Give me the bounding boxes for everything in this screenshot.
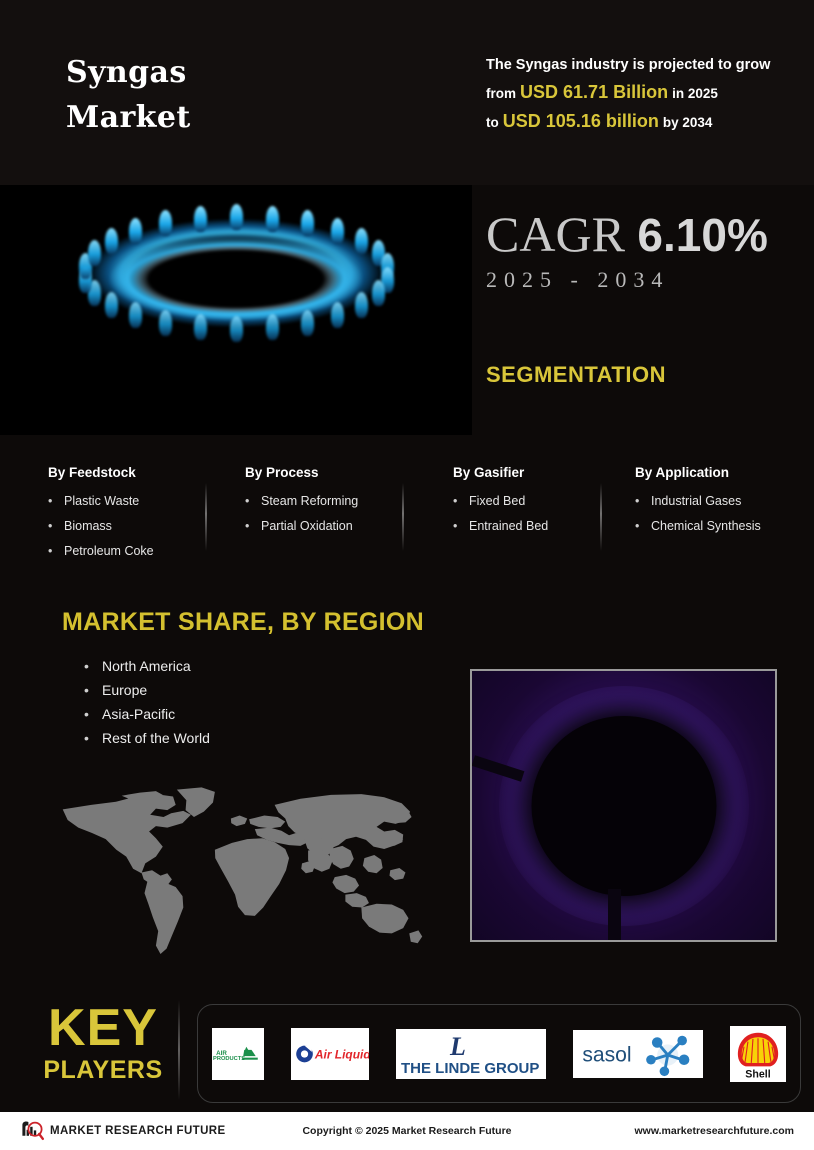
world-map-image <box>40 782 424 957</box>
cagr-year-range: 2025 - 2034 <box>486 267 768 293</box>
flame-tooth <box>159 210 172 236</box>
segmentation-title: SEGMENTATION <box>486 362 666 388</box>
hero-flame-image <box>0 185 472 435</box>
segmentation-item: •Fixed Bed <box>453 489 548 514</box>
footer-url[interactable]: www.marketresearchfuture.com <box>534 1125 794 1137</box>
key-players-label: KEY PLAYERS <box>28 1002 178 1086</box>
svg-text:Air Liquide: Air Liquide <box>314 1047 369 1061</box>
region-list-item: •Europe <box>84 678 210 702</box>
flame2-grate-bottom <box>608 889 621 941</box>
bullet-icon: • <box>84 678 102 702</box>
svg-text:THE LINDE GROUP: THE LINDE GROUP <box>401 1060 539 1077</box>
bullet-icon: • <box>84 726 102 750</box>
bullet-icon: • <box>245 514 261 539</box>
segmentation-column-2: By Process•Steam Reforming•Partial Oxida… <box>245 465 358 539</box>
segmentation-item: •Biomass <box>48 514 154 539</box>
segmentation-item: •Industrial Gases <box>635 489 761 514</box>
key-players-divider <box>178 1000 180 1100</box>
flame-tooth <box>331 218 344 244</box>
flame-tooth <box>88 240 101 266</box>
flame-tooth <box>129 218 142 244</box>
logo-linde-group: L THE LINDE GROUP <box>396 1029 546 1079</box>
cagr-value: 6.10% <box>637 209 767 261</box>
logo-sasol: sasol <box>573 1030 703 1078</box>
bullet-icon: • <box>48 514 64 539</box>
bullet-icon: • <box>635 514 651 539</box>
bullet-icon: • <box>84 654 102 678</box>
footer-brand-name: MARKET RESEARCH FUTURE <box>50 1125 226 1137</box>
flame-tooth <box>194 314 207 340</box>
cagr-block: CAGR 6.10% 2025 - 2034 <box>486 206 768 293</box>
key-players-label-bottom: PLAYERS <box>28 1054 178 1086</box>
svg-text:Shell: Shell <box>746 1068 771 1080</box>
bullet-icon: • <box>48 539 64 564</box>
secondary-flame-image <box>470 669 777 942</box>
cagr-headline: CAGR 6.10% <box>486 206 768 263</box>
title-line-2: Market <box>66 95 396 140</box>
segmentation-column-1: By Feedstock•Plastic Waste•Biomass•Petro… <box>48 465 154 564</box>
flame-tooth <box>355 292 368 318</box>
segmentation-item: •Petroleum Coke <box>48 539 154 564</box>
air-products-logo-icon: AIR PRODUCTS <box>212 1028 264 1080</box>
segmentation-item: •Entrained Bed <box>453 514 548 539</box>
growth-line-3-suffix: by 2034 <box>663 115 713 130</box>
footer-copyright: Copyright © 2025 Market Research Future <box>280 1125 534 1137</box>
segmentation-item: •Steam Reforming <box>245 489 358 514</box>
growth-line-2-prefix: from <box>486 86 516 101</box>
title-line-1: Syngas <box>66 50 396 95</box>
bullet-icon: • <box>48 489 64 514</box>
segmentation-item: •Plastic Waste <box>48 489 154 514</box>
growth-line-1: The Syngas industry is projected to grow <box>486 52 786 79</box>
infographic-page: Syngas Market The Syngas industry is pro… <box>0 0 814 1150</box>
flame-tooth <box>230 316 243 342</box>
sasol-logo-icon: sasol <box>573 1030 703 1078</box>
key-players-label-top: KEY <box>28 1002 178 1054</box>
flame-tooth <box>301 210 314 236</box>
flame-tooth <box>301 310 314 336</box>
flame-tooth <box>230 204 243 230</box>
segmentation-divider-2 <box>402 483 404 551</box>
flame2-burner-core <box>531 716 716 896</box>
bullet-icon: • <box>453 489 469 514</box>
svg-text:sasol: sasol <box>582 1043 631 1066</box>
logo-air-products: AIR PRODUCTS <box>212 1028 264 1080</box>
world-map-svg <box>40 782 424 957</box>
growth-value-2034: USD 105.16 billion <box>503 111 659 131</box>
linde-group-logo-icon: L THE LINDE GROUP <box>396 1029 546 1079</box>
flame-tooth <box>266 314 279 340</box>
growth-line-3-prefix: to <box>486 115 499 130</box>
footer-brand: MARKET RESEARCH FUTURE <box>20 1120 280 1142</box>
segmentation-heading: By Gasifier <box>453 465 548 480</box>
bullet-icon: • <box>245 489 261 514</box>
flame-tooth <box>331 302 344 328</box>
page-title: Syngas Market <box>66 50 396 140</box>
segmentation-heading: By Application <box>635 465 761 480</box>
flame-tooth <box>105 292 118 318</box>
bullet-icon: • <box>84 702 102 726</box>
segmentation-item: •Partial Oxidation <box>245 514 358 539</box>
segmentation-column-4: By Application•Industrial Gases•Chemical… <box>635 465 761 539</box>
flame-tooth <box>129 302 142 328</box>
growth-line-2: from USD 61.71 Billion in 2025 <box>486 79 786 108</box>
flame-tooth <box>266 206 279 232</box>
segmentation-column-3: By Gasifier•Fixed Bed•Entrained Bed <box>453 465 548 539</box>
segmentation-divider-3 <box>600 483 602 551</box>
flame-tooth <box>105 228 118 254</box>
region-list: •North America•Europe•Asia-Pacific•Rest … <box>84 654 210 750</box>
key-players-logo-box: AIR PRODUCTS Air Liquide L THE LINDE GRO… <box>197 1004 801 1103</box>
growth-statement: The Syngas industry is projected to grow… <box>486 52 786 137</box>
flame-tooth <box>372 280 385 306</box>
logo-shell: Shell <box>730 1026 786 1082</box>
segmentation-heading: By Process <box>245 465 358 480</box>
segmentation-heading: By Feedstock <box>48 465 154 480</box>
logo-air-liquide: Air Liquide <box>291 1028 369 1080</box>
flame-tooth <box>355 228 368 254</box>
growth-value-2025: USD 61.71 Billion <box>520 82 668 102</box>
footer: MARKET RESEARCH FUTURE Copyright © 2025 … <box>0 1112 814 1150</box>
cagr-label: CAGR <box>486 206 625 262</box>
region-list-item: •North America <box>84 654 210 678</box>
growth-line-2-suffix: in 2025 <box>672 86 718 101</box>
market-share-title: MARKET SHARE, BY REGION <box>62 608 424 637</box>
svg-text:L: L <box>449 1032 466 1061</box>
world-map-landmasses <box>63 787 423 954</box>
segmentation-row: By Feedstock•Plastic Waste•Biomass•Petro… <box>0 465 814 575</box>
bullet-icon: • <box>635 489 651 514</box>
air-liquide-logo-icon: Air Liquide <box>291 1028 369 1080</box>
bullet-icon: • <box>453 514 469 539</box>
flame-tooth <box>194 206 207 232</box>
shell-logo-icon: Shell <box>730 1026 786 1082</box>
svg-text:PRODUCTS: PRODUCTS <box>213 1056 245 1062</box>
segmentation-divider-1 <box>205 483 207 551</box>
region-list-item: •Rest of the World <box>84 726 210 750</box>
growth-line-3: to USD 105.16 billion by 2034 <box>486 108 786 137</box>
region-list-item: •Asia-Pacific <box>84 702 210 726</box>
segmentation-item: •Chemical Synthesis <box>635 514 761 539</box>
market-research-future-logo-icon <box>20 1120 44 1142</box>
